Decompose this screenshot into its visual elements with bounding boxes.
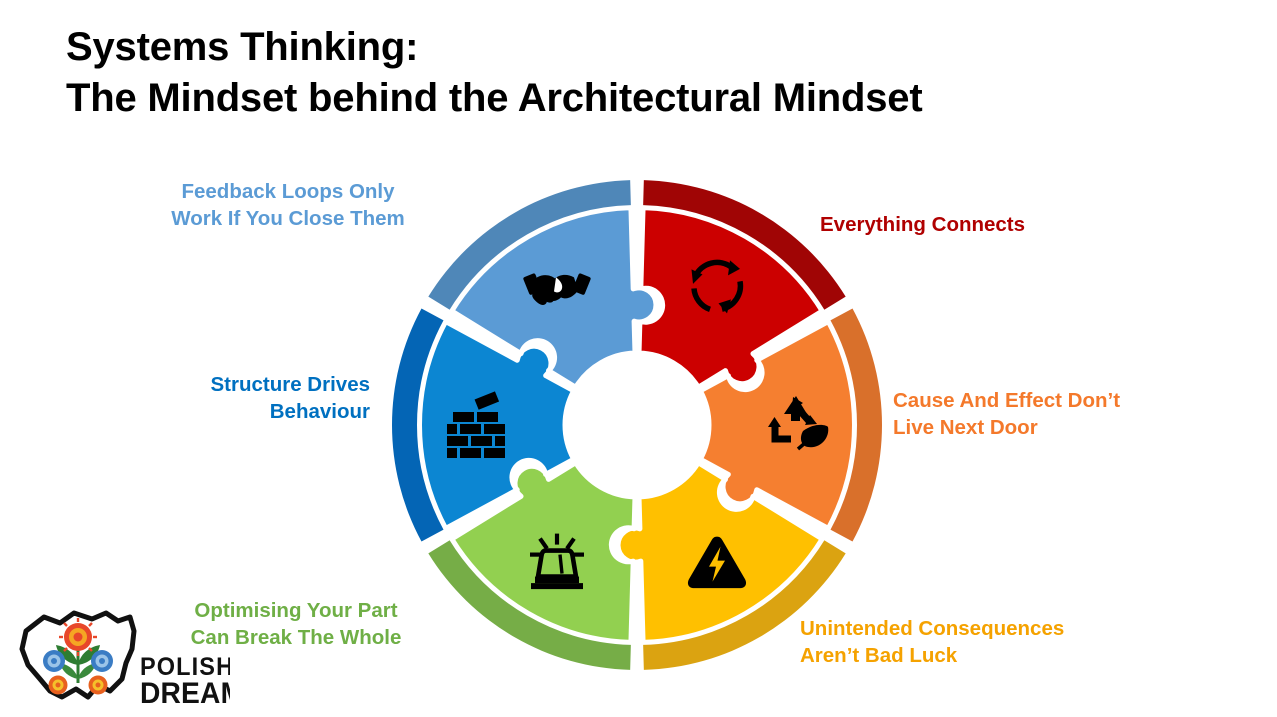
systems-thinking-wheel bbox=[387, 175, 887, 675]
slide-root: Systems Thinking: The Mindset behind the… bbox=[0, 0, 1277, 717]
wheel-svg bbox=[387, 175, 887, 675]
logo-line-dreamin: DREAMIN’ bbox=[140, 677, 230, 710]
label-feedback-loops: Feedback Loops Only Work If You Close Th… bbox=[118, 178, 458, 233]
label-unintended-consequences: Unintended Consequences Aren’t Bad Luck bbox=[800, 615, 1180, 670]
wheel-center-hole bbox=[579, 367, 695, 483]
label-structure-drives-behaviour: Structure Drives Behaviour bbox=[118, 371, 370, 426]
label-everything-connects: Everything Connects bbox=[820, 211, 1180, 238]
label-cause-and-effect: Cause And Effect Don’t Live Next Door bbox=[893, 387, 1223, 442]
polish-dreamin-logo: POLISH DREAMIN’ bbox=[14, 605, 230, 711]
page-title: Systems Thinking: The Mindset behind the… bbox=[66, 22, 1246, 124]
